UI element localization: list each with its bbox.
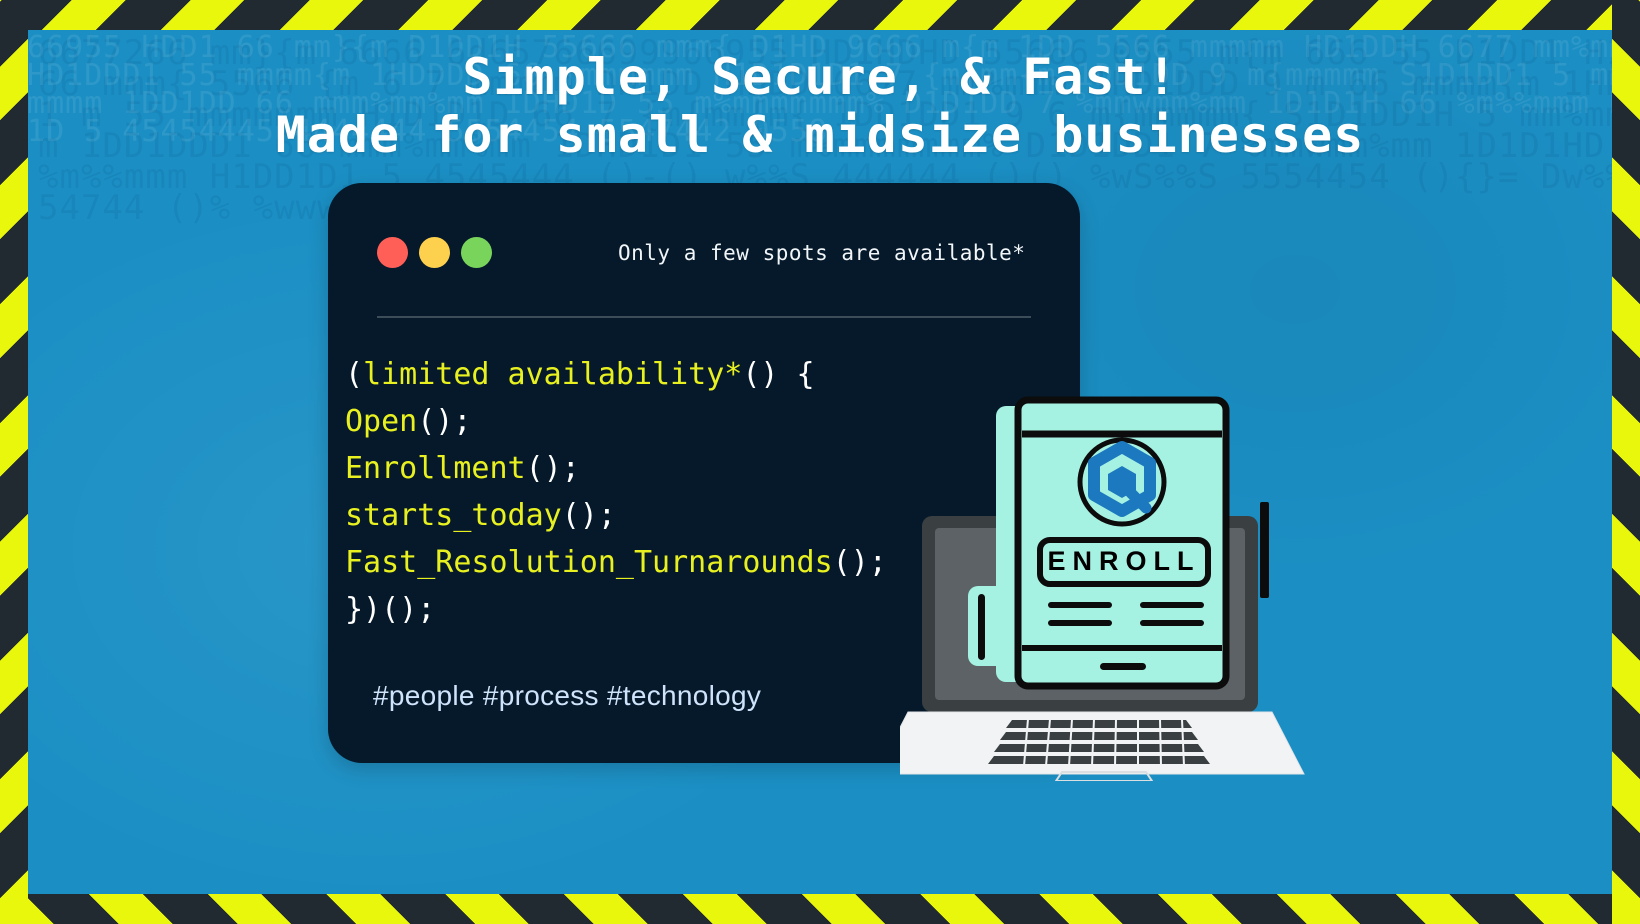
- laptop-illustration: ENROLL: [900, 376, 1330, 781]
- code-token: ();: [833, 545, 887, 580]
- hashtags: #people #process #technology: [373, 680, 761, 712]
- poster-canvas: 6677266 mm}{m 6666 6d65766699966955 HD1H…: [0, 0, 1640, 924]
- code-window-titlebar: Only a few spots are available*: [328, 183, 1080, 315]
- hexagon-q-logo: [1080, 440, 1164, 524]
- enroll-button-label: ENROLL: [1048, 546, 1201, 576]
- code-token: })();: [345, 592, 435, 627]
- code-token: Fast_Resolution_Turnarounds: [345, 545, 833, 580]
- code-token: ();: [526, 451, 580, 486]
- code-token: ();: [562, 498, 616, 533]
- headline-line-2: Made for small & midsize businesses: [0, 106, 1640, 164]
- headline: Simple, Secure, & Fast! Made for small &…: [0, 48, 1640, 164]
- code-token: ();: [417, 404, 471, 439]
- code-token: () {: [742, 357, 814, 392]
- minimize-dot-icon[interactable]: [419, 237, 450, 268]
- hazard-stripe-bottom: [0, 894, 1640, 924]
- code-window-title: Only a few spots are available*: [618, 241, 1025, 265]
- device-side-edge: [1260, 502, 1269, 598]
- code-token: (: [345, 357, 363, 392]
- traffic-lights: [377, 237, 492, 268]
- titlebar-divider: [377, 316, 1031, 318]
- code-token: starts_today: [345, 498, 562, 533]
- headline-line-1: Simple, Secure, & Fast!: [462, 48, 1177, 106]
- maximize-dot-icon[interactable]: [461, 237, 492, 268]
- laptop-base: [900, 712, 1304, 781]
- hazard-stripe-top: [0, 0, 1640, 30]
- code-token: Open: [345, 404, 417, 439]
- code-token: limited availability*: [363, 357, 742, 392]
- enroll-button: ENROLL: [1040, 540, 1208, 584]
- code-token: Enrollment: [345, 451, 526, 486]
- close-dot-icon[interactable]: [377, 237, 408, 268]
